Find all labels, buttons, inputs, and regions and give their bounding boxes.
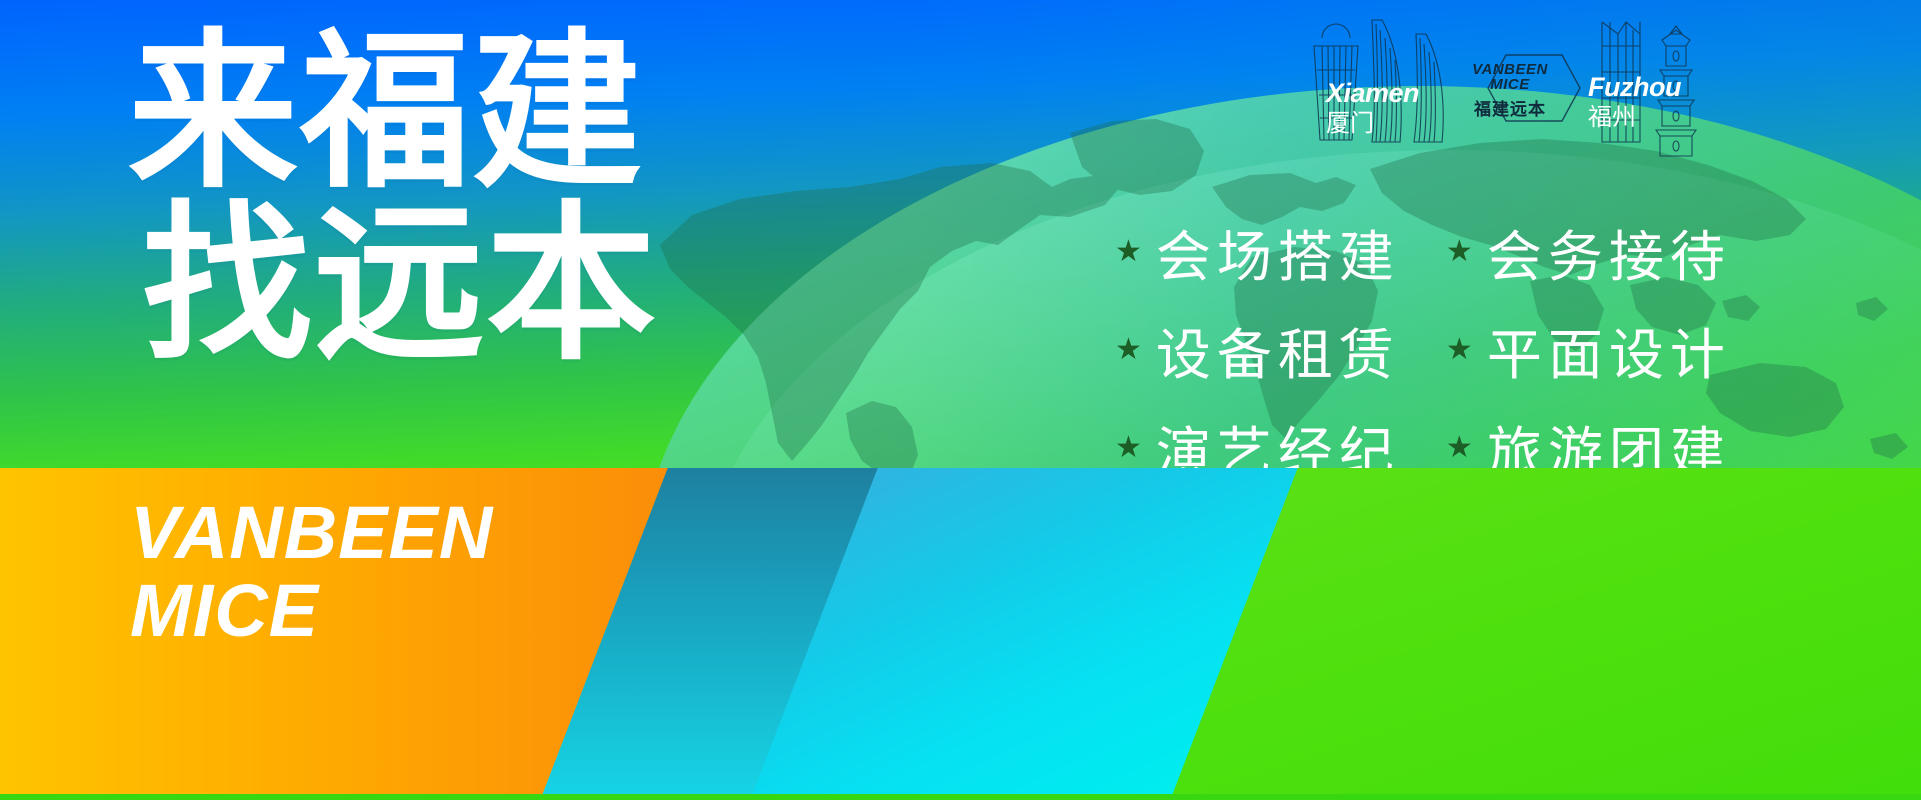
headline-line-2: 找远本 <box>142 206 658 366</box>
service-item: ★ 设备租赁 <box>1115 310 1400 390</box>
promotional-banner: 来福建 找远本 ★ 会场搭建 ★ 会务接待 ★ 设备租赁 ★ 平面设计 ★ <box>0 0 1921 800</box>
wordmark-line-2: MICE <box>130 575 493 647</box>
service-label: 设备租赁 <box>1156 310 1400 390</box>
service-label: 旅游团建 <box>1487 408 1731 468</box>
star-icon: ★ <box>1115 237 1142 267</box>
service-item: ★ 演艺经纪 <box>1115 408 1400 468</box>
star-icon: ★ <box>1446 433 1473 463</box>
wordmark-line-1: VANBEEN <box>130 497 493 569</box>
service-label: 演艺经纪 <box>1156 408 1400 468</box>
star-icon: ★ <box>1115 335 1142 365</box>
city-name-cn: 福州 <box>1588 104 1681 132</box>
hex-logo-line-1: VANBEEN <box>1450 62 1570 77</box>
service-item: ★ 会务接待 <box>1446 212 1731 292</box>
service-item: ★ 会场搭建 <box>1115 212 1400 292</box>
service-item: ★ 旅游团建 <box>1446 408 1731 468</box>
star-icon: ★ <box>1446 335 1473 365</box>
service-label: 平面设计 <box>1487 310 1731 390</box>
service-label: 会场搭建 <box>1156 212 1400 292</box>
brand-wordmark: VANBEEN MICE <box>130 497 493 647</box>
service-label: 会务接待 <box>1487 212 1731 292</box>
city-label-xiamen: Xiamen 厦门 <box>1326 80 1419 138</box>
services-list: ★ 会场搭建 ★ 会务接待 ★ 设备租赁 ★ 平面设计 ★ 演艺经纪 ★ 旅游团… <box>1115 212 1731 468</box>
headline-line-1: 来福建 <box>128 34 658 194</box>
bottom-edge-strip <box>0 794 1921 800</box>
star-icon: ★ <box>1446 237 1473 267</box>
city-name-en: Fuzhou <box>1588 74 1681 101</box>
city-name-cn: 厦门 <box>1326 110 1419 138</box>
banner-stage: 来福建 找远本 ★ 会场搭建 ★ 会务接待 ★ 设备租赁 ★ 平面设计 ★ <box>0 0 1921 468</box>
city-name-en: Xiamen <box>1326 80 1419 107</box>
hex-logo-line-2: MICE <box>1450 77 1570 92</box>
hexagon-brand-logo: VANBEEN MICE 福建远本 <box>1450 62 1570 120</box>
page-title: 来福建 找远本 <box>128 34 658 366</box>
city-label-fuzhou: Fuzhou 福州 <box>1588 74 1681 132</box>
diagonal-band-green <box>1168 468 1921 800</box>
hex-logo-line-3: 福建远本 <box>1450 95 1570 120</box>
service-item: ★ 平面设计 <box>1446 310 1731 390</box>
star-icon: ★ <box>1115 433 1142 463</box>
